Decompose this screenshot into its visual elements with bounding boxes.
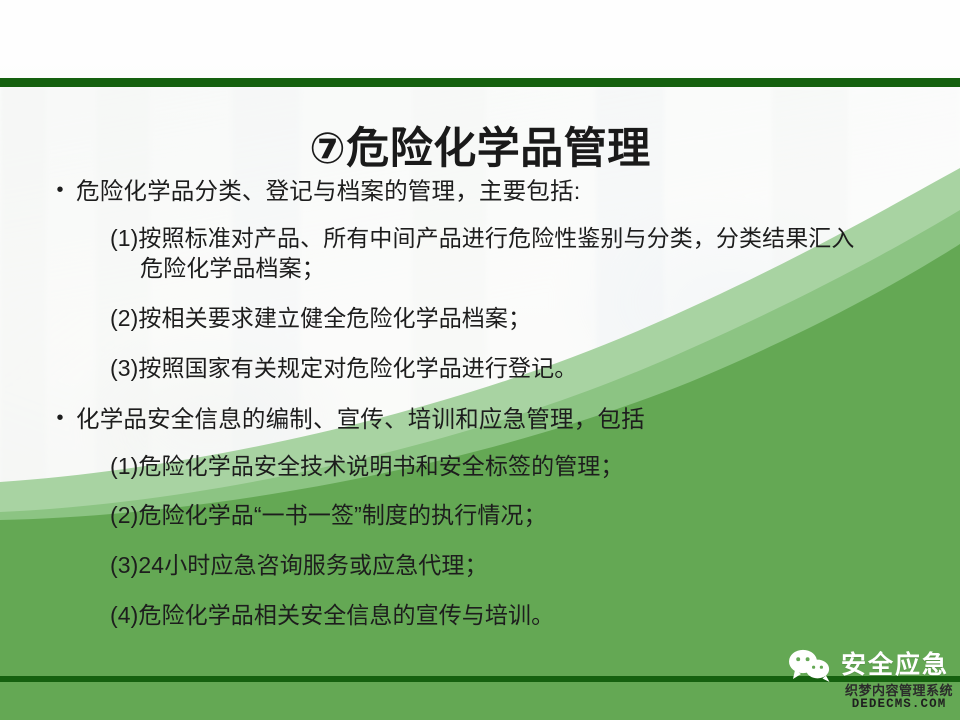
bullet-item: • 化学品安全信息的编制、宣传、培训和应急管理，包括 [44,404,934,435]
sub-item: (3)24小时应急咨询服务或应急代理； [110,551,934,581]
spacer [44,338,934,354]
bullet-text: 危险化学品分类、登记与档案的管理，主要包括: [76,176,934,207]
spacer [44,211,934,224]
top-divider-rule [0,78,960,87]
spacer [44,388,934,404]
sub-item-line: (2)按相关要求建立健全危险化学品档案； [110,305,531,331]
brand-lockup: 安全应急 [788,648,949,682]
spacer [44,288,934,304]
sub-item: (1)按照标准对产品、所有中间产品进行危险性鉴别与分类，分类结果汇入 危险化学品… [110,224,934,284]
watermark-cn-text: 织梦内容管理系统 [845,684,953,698]
sub-item-line: (3)24小时应急咨询服务或应急代理； [110,552,488,578]
sub-item: (4)危险化学品相关安全信息的宣传与培训。 [110,601,934,631]
sub-item-line: (1)按照标准对产品、所有中间产品进行危险性鉴别与分类，分类结果汇入 [110,225,855,251]
bullet-item: • 危险化学品分类、登记与档案的管理，主要包括: [44,176,934,207]
sub-item-line: (1)危险化学品安全技术说明书和安全标签的管理； [110,453,624,479]
sub-item-line: (4)危险化学品相关安全信息的宣传与培训。 [110,602,554,628]
page-title: ⑦危险化学品管理 [0,125,960,173]
watermark-en-text: DEDECMS.COM [845,698,953,711]
brand-name: 安全应急 [841,653,949,678]
slide-content: • 危险化学品分类、登记与档案的管理，主要包括: (1)按照标准对产品、所有中间… [44,176,934,635]
wechat-icon [788,648,832,682]
spacer [44,439,934,452]
spacer [44,485,934,501]
sub-item-line: (2)危险化学品“一书一签”制度的执行情况； [110,502,547,528]
sub-item-line: (3)按照国家有关规定对危险化学品进行登记。 [110,355,577,381]
watermark: 织梦内容管理系统 DEDECMS.COM [845,684,953,711]
sub-item: (1)危险化学品安全技术说明书和安全标签的管理； [110,452,934,482]
spacer [44,535,934,551]
spacer [44,585,934,601]
sub-item-line-continued: 危险化学品档案； [140,254,934,284]
sub-item: (2)危险化学品“一书一签”制度的执行情况； [110,501,934,531]
slide: ⑦危险化学品管理 • 危险化学品分类、登记与档案的管理，主要包括: (1)按照标… [0,0,960,720]
bullet-dot-icon: • [44,176,76,204]
sub-item: (3)按照国家有关规定对危险化学品进行登记。 [110,354,934,384]
bullet-dot-icon: • [44,404,76,432]
bullet-text: 化学品安全信息的编制、宣传、培训和应急管理，包括 [76,404,934,435]
sub-item: (2)按相关要求建立健全危险化学品档案； [110,304,934,334]
